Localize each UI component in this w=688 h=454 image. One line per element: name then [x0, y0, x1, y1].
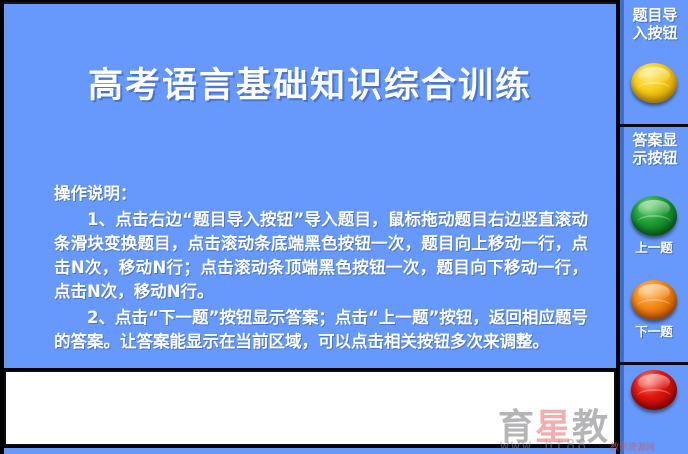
button-gloss [638, 374, 669, 390]
button-ring [637, 389, 670, 405]
control-sidebar: 题目导入按钮 答案显示按钮 上一题 下一题 [620, 0, 688, 454]
green-round-button-icon[interactable] [631, 196, 677, 236]
slide-top-rule [4, 2, 616, 4]
sidebar-divider-2 [620, 362, 688, 365]
button-ring [637, 299, 670, 315]
button-gloss [638, 200, 669, 216]
button-gloss [638, 67, 669, 83]
presentation-slide-window: 高考语言基础知识综合训练 操作说明： 1、点击右边“题目导入按钮”导入题目，鼠标… [0, 0, 688, 454]
sidebar-divider-1 [620, 124, 688, 127]
sidebar-label-import: 题目导入按钮 [626, 6, 684, 43]
red-round-button-icon[interactable] [631, 370, 677, 410]
slide-canvas: 高考语言基础知识综合训练 操作说明： 1、点击右边“题目导入按钮”导入题目，鼠标… [4, 2, 616, 368]
previous-button-caption: 上一题 [620, 237, 688, 256]
slide-bottom-strip [4, 448, 616, 454]
button-ring [637, 215, 670, 231]
red-action-button[interactable] [620, 370, 688, 411]
button-ring [637, 82, 670, 98]
previous-question-button[interactable]: 上一题 [620, 196, 688, 256]
instructions-heading: 操作说明： [54, 182, 588, 206]
next-question-button[interactable]: 下一题 [620, 280, 688, 340]
button-gloss [638, 284, 669, 300]
instructions-block: 操作说明： 1、点击右边“题目导入按钮”导入题目，鼠标拖动题目右边竖直滚动条滑块… [54, 182, 588, 355]
page-title: 高考语言基础知识综合训练 [4, 68, 616, 105]
yellow-round-button-icon[interactable] [631, 63, 677, 103]
import-questions-button[interactable] [620, 63, 688, 104]
answer-display-panel[interactable] [4, 370, 616, 446]
sidebar-label-answer: 答案显示按钮 [626, 131, 684, 168]
instruction-item-2: 2、点击“下一题”按钮显示答案；点击“上一题”按钮，返回相应题号的答案。让答案能… [54, 306, 588, 354]
orange-round-button-icon[interactable] [631, 280, 677, 320]
instruction-item-1: 1、点击右边“题目导入按钮”导入题目，鼠标拖动题目右边竖直滚动条滑块变换题目，点… [54, 208, 588, 304]
next-button-caption: 下一题 [620, 321, 688, 340]
